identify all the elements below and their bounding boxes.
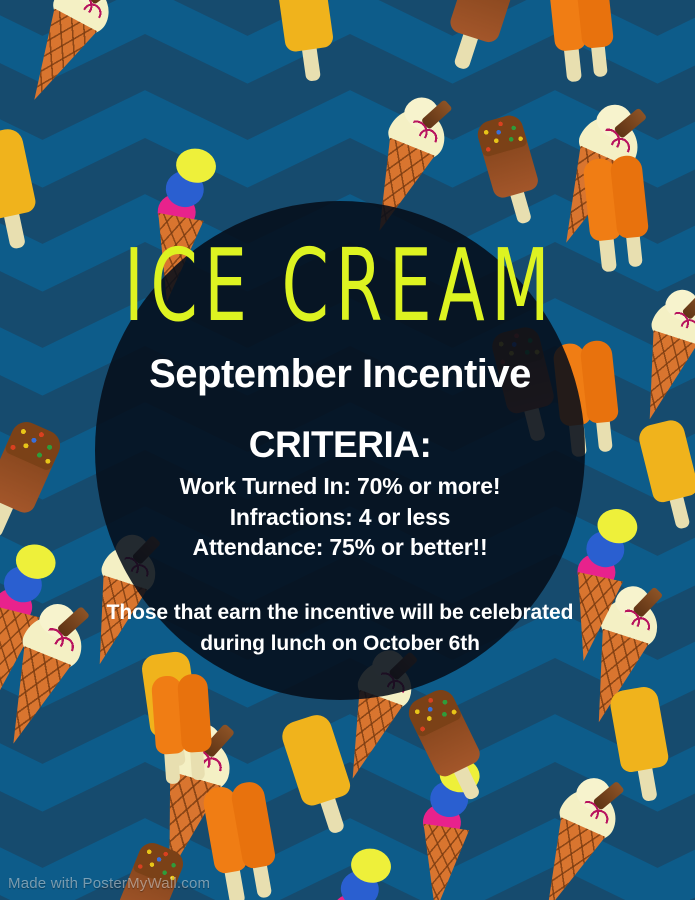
criteria-list: Work Turned In: 70% or more!Infractions:… xyxy=(95,471,585,562)
watermark: Made with PosterMyWall.com xyxy=(8,875,210,892)
criteria-line: Work Turned In: 70% or more! xyxy=(95,471,585,501)
closing-statement: Those that earn the incentive will be ce… xyxy=(95,597,585,661)
poster-text-block: ICE CREAM September Incentive CRITERIA: … xyxy=(95,201,585,700)
poster-subtitle: September Incentive xyxy=(95,354,585,394)
poster-title: ICE CREAM xyxy=(115,241,566,333)
criteria-line: Attendance: 75% or better!! xyxy=(95,532,585,562)
twin-popsicle-icon xyxy=(547,0,619,96)
criteria-line: Infractions: 4 or less xyxy=(95,502,585,532)
criteria-heading: CRITERIA: xyxy=(95,426,585,463)
poster-canvas: ICE CREAM September Incentive CRITERIA: … xyxy=(0,0,695,900)
